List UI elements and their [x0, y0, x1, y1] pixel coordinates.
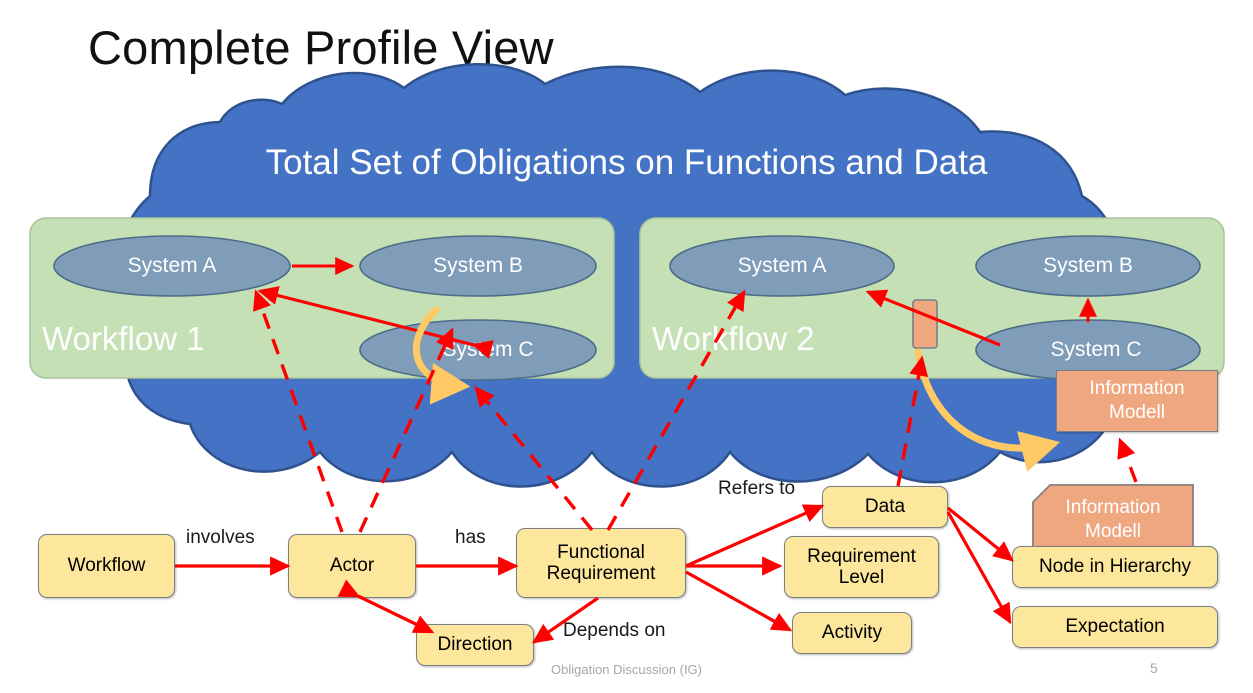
dashed-actor-to-wf1-system-a: [256, 292, 342, 532]
arrow-actor-direction-bidirectional: [358, 596, 432, 632]
edge-label-refers-to: Refers to: [718, 478, 795, 500]
arrow-functional-requirement-to-data: [686, 506, 822, 566]
arrow-functional-requirement-to-activity: [686, 572, 790, 630]
arrow-wf2-c-to-a: [868, 292, 1000, 345]
edge-label-involves: involves: [186, 527, 255, 549]
edge-label-depends-on: Depends on: [563, 620, 665, 642]
arrow-data-to-node-in-hierarchy: [948, 508, 1012, 560]
slide-canvas: Complete Profile View: [0, 0, 1253, 693]
arrow-data-to-expectation: [948, 512, 1010, 622]
dashed-functional-requirement-to-wf1-system-c: [476, 388, 592, 530]
dashed-data-to-wf2-obligation-block: [898, 358, 922, 486]
yellow-curve-wf1: [416, 310, 462, 386]
arrow-wf1-c-to-a: [260, 291, 474, 345]
page-number: 5: [1150, 660, 1158, 676]
yellow-curve-wf2-to-information-modell: [918, 352, 1052, 448]
edge-label-has: has: [455, 527, 486, 549]
connectors-layer: [0, 0, 1253, 693]
dashed-information-modell-to-information-modell: [1120, 440, 1136, 482]
dashed-actor-to-wf1-system-c: [360, 330, 452, 532]
footer-note: Obligation Discussion (IG): [0, 662, 1253, 677]
